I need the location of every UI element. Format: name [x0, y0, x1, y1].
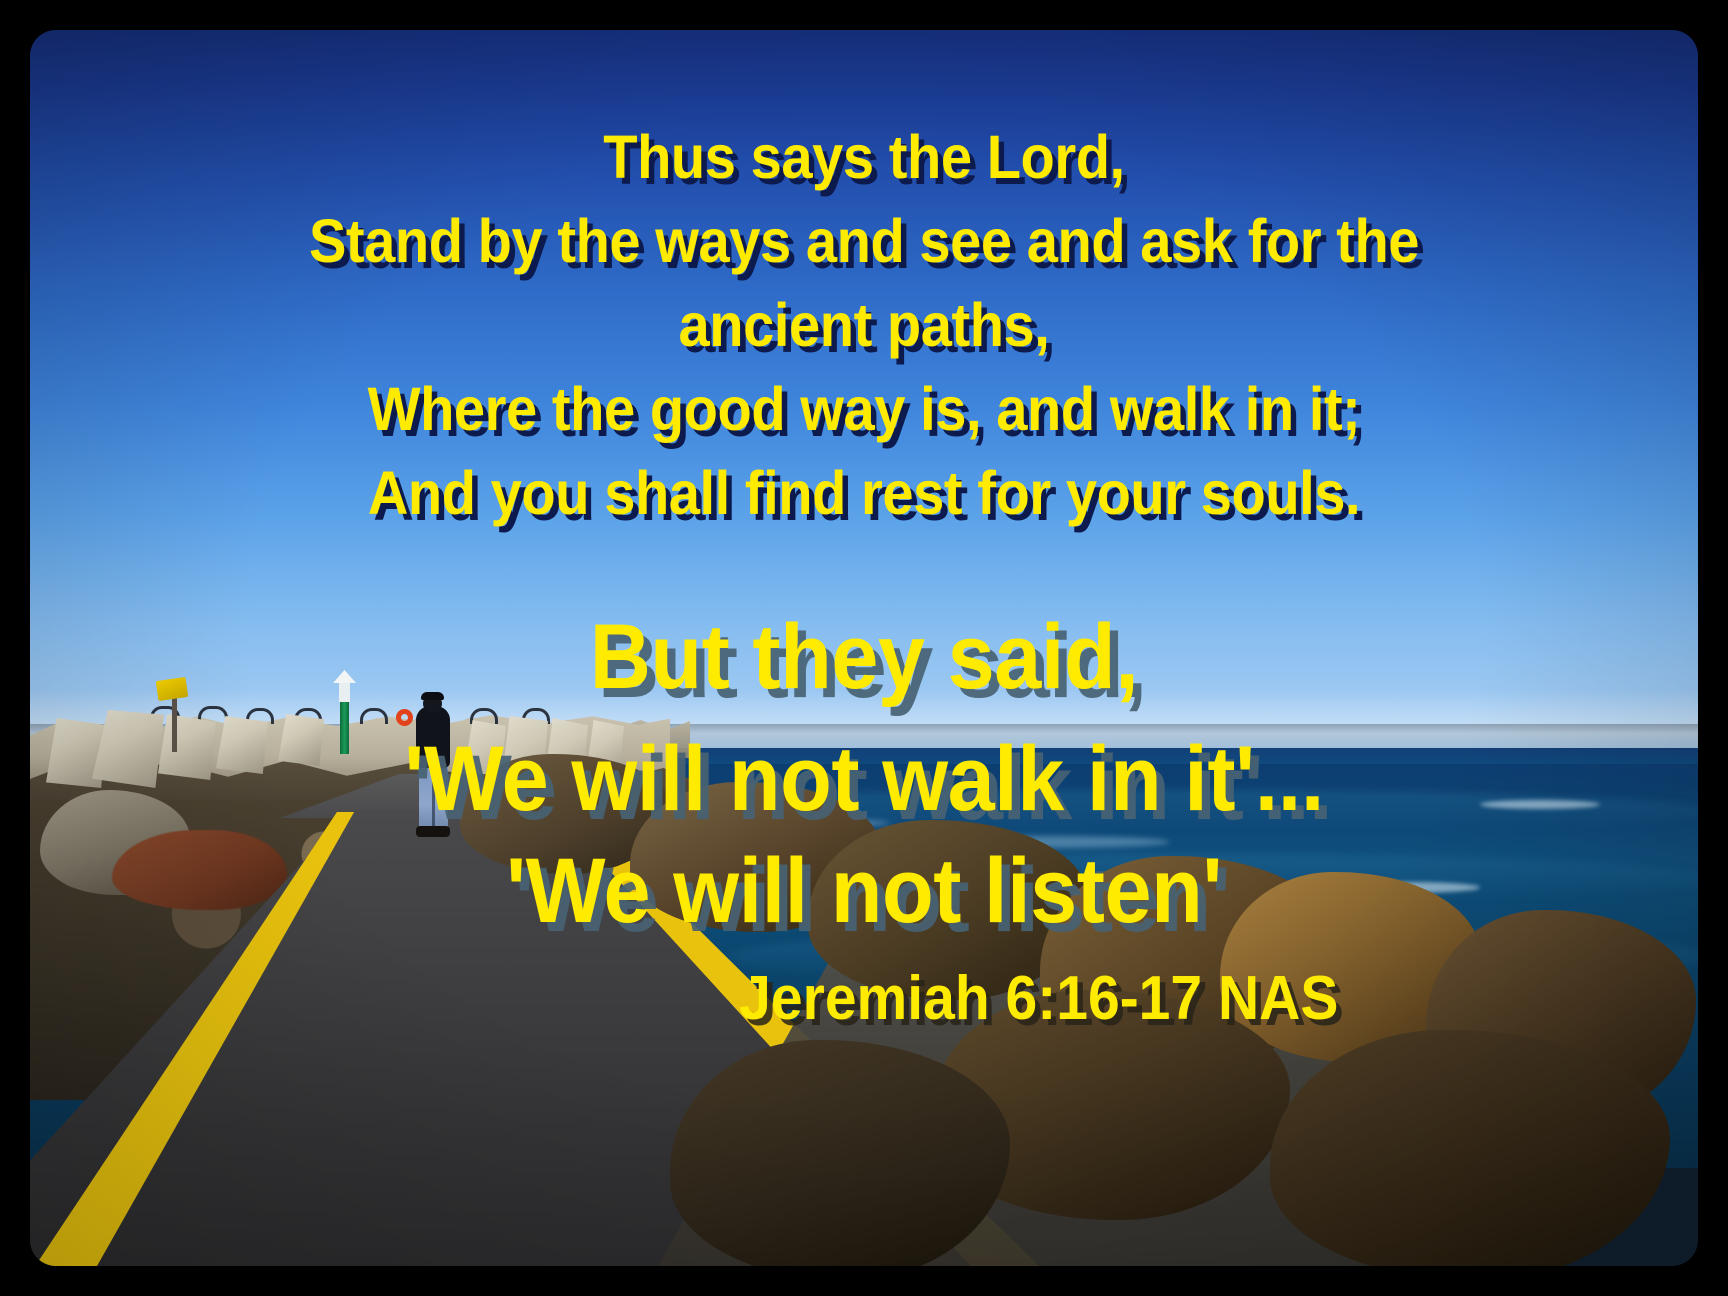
concrete-block — [216, 716, 268, 774]
walker-leg-split — [432, 778, 435, 828]
rust-colored-rock — [112, 830, 287, 910]
photo-frame: Thus says the Lord, Stand by the ways an… — [30, 30, 1698, 1266]
walker-cap — [421, 692, 444, 700]
yellow-sign-icon — [156, 677, 188, 701]
railing-hoop — [360, 708, 388, 724]
boulder — [670, 1040, 1010, 1266]
walker-shoes — [416, 826, 450, 837]
sky-background — [30, 30, 1698, 724]
life-ring-icon — [396, 709, 413, 726]
slide-root: Thus says the Lord, Stand by the ways an… — [0, 0, 1728, 1296]
sign-post — [172, 698, 177, 752]
boulder — [1270, 1030, 1670, 1266]
whitecap — [1480, 800, 1600, 809]
channel-marker-pole — [340, 700, 349, 754]
walker-body — [416, 706, 450, 768]
concrete-block — [158, 714, 216, 780]
